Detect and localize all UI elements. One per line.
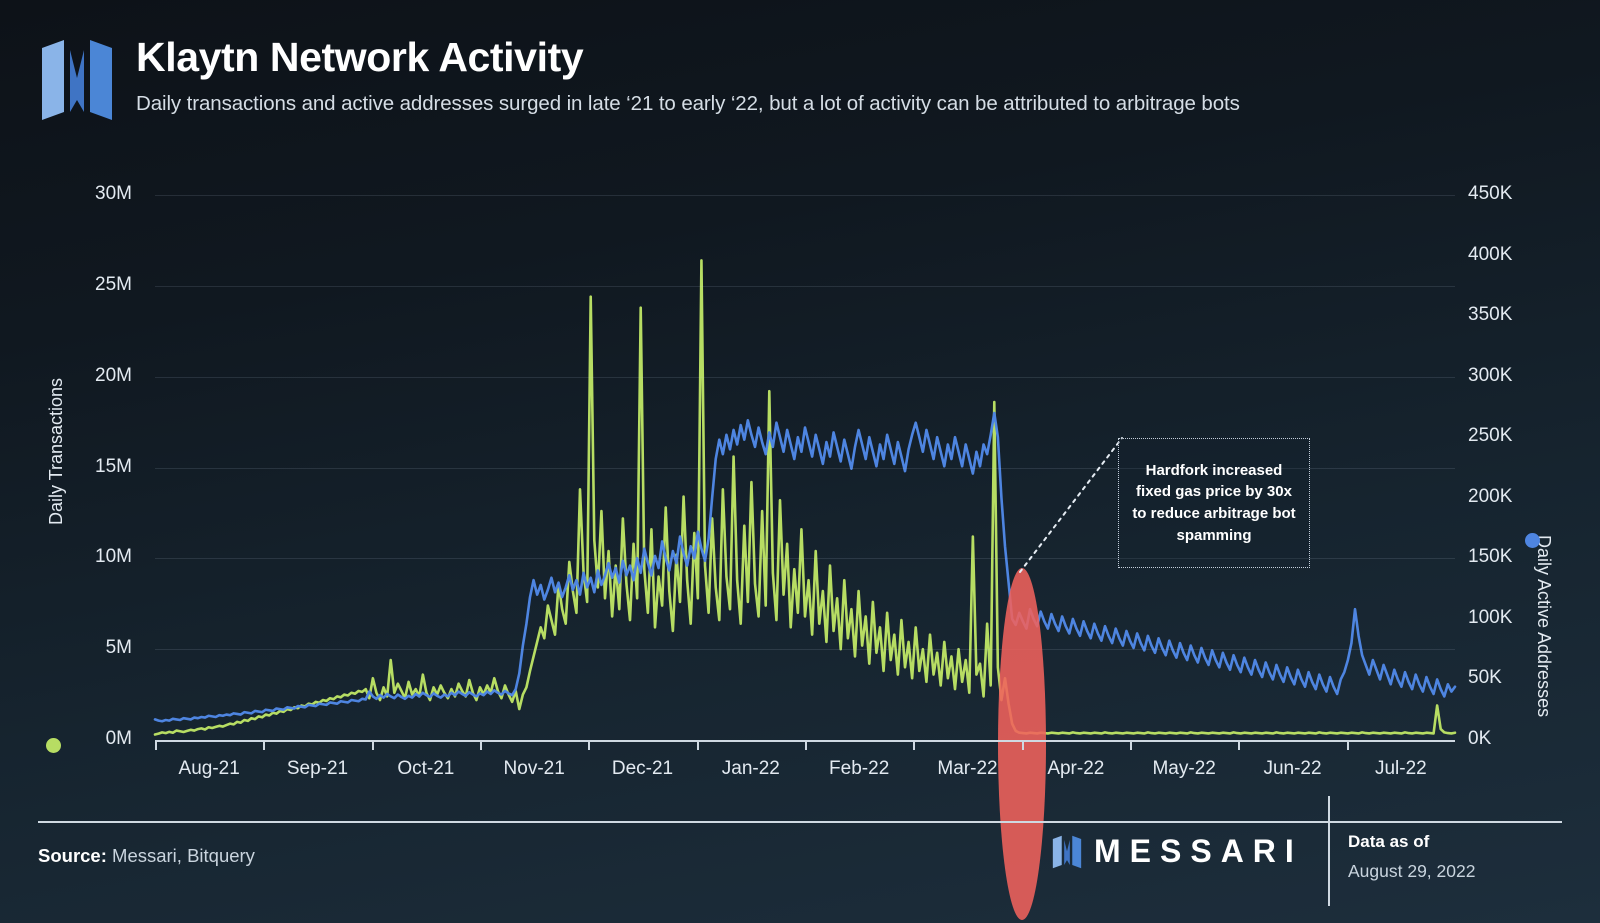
gridline <box>155 649 1455 650</box>
x-axis-tick-label: Mar-22 <box>937 758 997 780</box>
page-subtitle: Daily transactions and active addresses … <box>136 92 1240 116</box>
x-axis-tick-label: Sep-21 <box>287 758 348 780</box>
y-axis-right-tick: 50K <box>1468 667 1502 689</box>
right-axis-title: Daily Active Addresses <box>1533 535 1554 717</box>
y-axis-right-tick: 100K <box>1468 607 1512 629</box>
x-axis-tick-label: Nov-21 <box>504 758 565 780</box>
y-axis-left-tick: 0M <box>106 728 132 750</box>
x-axis-tick-label: Oct-21 <box>397 758 454 780</box>
data-as-of-value: August 29, 2022 <box>1348 861 1475 882</box>
y-axis-left-tick: 25M <box>95 274 132 296</box>
legend-dot-daily-active-addresses <box>1525 533 1540 548</box>
hardfork-annotation-box: Hardfork increased fixed gas price by 30… <box>1118 438 1310 568</box>
x-axis-tick-mark <box>263 740 265 750</box>
x-axis-tick-mark <box>1130 740 1132 750</box>
gridline <box>155 195 1455 196</box>
chart-container: Daily Transactions Daily Active Addresse… <box>0 170 1600 790</box>
y-axis-right-tick: 250K <box>1468 425 1512 447</box>
x-axis-tick-mark <box>372 740 374 750</box>
y-axis-left-tick: 20M <box>95 365 132 387</box>
x-axis-tick-mark <box>1022 740 1024 750</box>
data-as-of-block: Data as of August 29, 2022 <box>1348 832 1475 882</box>
y-axis-right-tick: 350K <box>1468 304 1512 326</box>
page-title: Klaytn Network Activity <box>136 36 1240 79</box>
messari-footer-logo: MESSARI <box>1052 833 1303 870</box>
x-axis-tick-label: Jan-22 <box>722 758 780 780</box>
y-axis-right-tick: 300K <box>1468 365 1512 387</box>
gridline <box>155 377 1455 378</box>
left-axis-title: Daily Transactions <box>46 378 67 525</box>
y-axis-left-tick: 5M <box>106 637 132 659</box>
x-axis-tick-mark <box>913 740 915 750</box>
messari-wordmark: MESSARI <box>1094 833 1303 870</box>
x-axis-tick-mark <box>1347 740 1349 750</box>
gridline <box>155 286 1455 287</box>
legend-dot-daily-transactions <box>46 738 61 753</box>
x-axis-tick-mark <box>805 740 807 750</box>
x-axis-tick-label: Apr-22 <box>1047 758 1104 780</box>
footer-divider-vertical <box>1328 796 1330 906</box>
hardfork-annotation-text: Hardfork increased fixed gas price by 30… <box>1127 460 1301 547</box>
y-axis-right-tick: 400K <box>1468 244 1512 266</box>
y-axis-left-tick: 30M <box>95 183 132 205</box>
y-axis-right-tick: 150K <box>1468 546 1512 568</box>
footer-divider-horizontal <box>38 821 1562 823</box>
header: Klaytn Network Activity Daily transactio… <box>40 34 1240 122</box>
x-axis-tick-mark <box>588 740 590 750</box>
y-axis-left-tick: 10M <box>95 546 132 568</box>
messari-m-logo-icon <box>1052 835 1082 869</box>
y-axis-right-tick: 0K <box>1468 728 1491 750</box>
x-axis-tick-mark <box>155 740 157 750</box>
x-axis-tick-mark <box>1238 740 1240 750</box>
source-credit: Source: Messari, Bitquery <box>38 845 255 867</box>
x-axis-tick-label: Dec-21 <box>612 758 673 780</box>
x-axis-tick-mark <box>480 740 482 750</box>
x-axis-tick-mark <box>697 740 699 750</box>
data-as-of-label: Data as of <box>1348 832 1475 852</box>
y-axis-right-tick: 200K <box>1468 486 1512 508</box>
source-value: Messari, Bitquery <box>112 845 255 866</box>
messari-m-logo-icon <box>40 38 114 122</box>
x-axis-tick-label: Feb-22 <box>829 758 889 780</box>
x-axis-tick-label: May-22 <box>1152 758 1215 780</box>
x-axis-tick-label: Jun-22 <box>1263 758 1321 780</box>
y-axis-right-tick: 450K <box>1468 183 1512 205</box>
y-axis-left-tick: 15M <box>95 456 132 478</box>
x-axis-tick-label: Jul-22 <box>1375 758 1427 780</box>
annotation-leader-line <box>1010 430 1130 580</box>
source-label: Source: <box>38 845 107 866</box>
x-axis-tick-label: Aug-21 <box>179 758 240 780</box>
